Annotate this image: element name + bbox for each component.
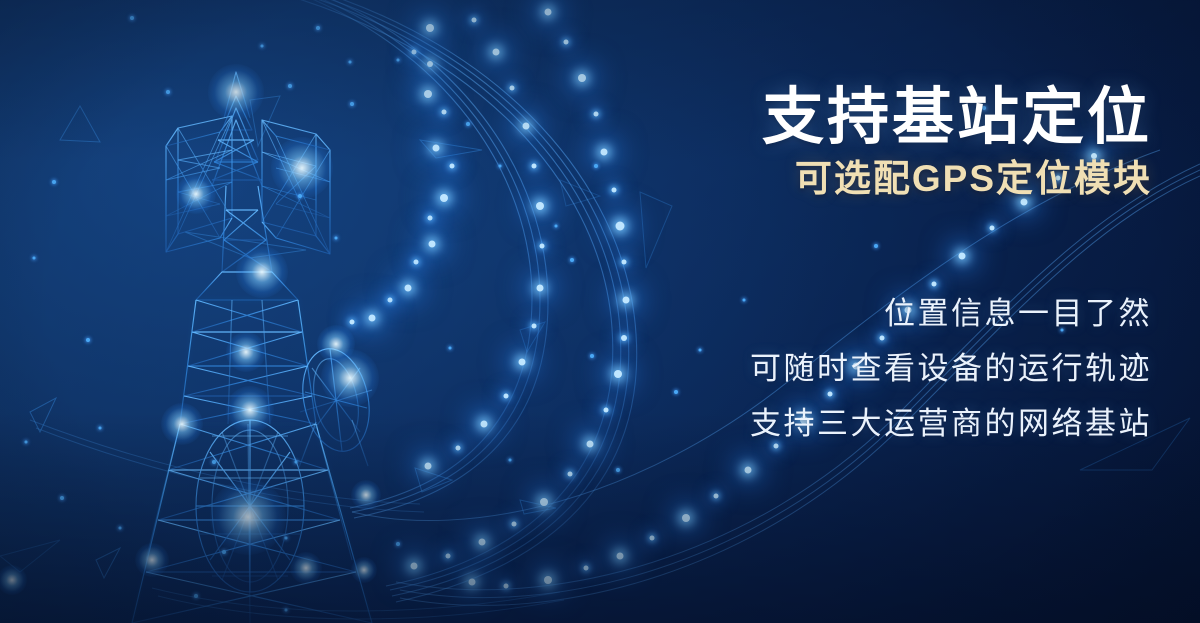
promo-banner: 支持基站定位 可选配GPS定位模块 位置信息一目了然 可随时查看设备的运行轨迹 … — [0, 0, 1200, 623]
swirl-arc-outer — [244, 0, 637, 602]
swirl-arc-inner — [295, 0, 548, 518]
tower-wireframe-echo — [132, 300, 372, 623]
list-item: 可随时查看设备的运行轨迹 — [592, 341, 1152, 396]
text-content-block: 支持基站定位 可选配GPS定位模块 位置信息一目了然 可随时查看设备的运行轨迹 … — [592, 0, 1152, 451]
page-subtitle: 可选配GPS定位模块 — [592, 159, 1152, 200]
list-item: 位置信息一目了然 — [592, 286, 1152, 341]
swirl-arc-left-wisp — [30, 420, 564, 619]
feature-list: 位置信息一目了然 可随时查看设备的运行轨迹 支持三大运营商的网络基站 — [592, 200, 1152, 452]
cell-tower-wireframe — [132, 72, 378, 623]
page-title: 支持基站定位 — [592, 0, 1152, 149]
list-item: 支持三大运营商的网络基站 — [592, 396, 1152, 451]
